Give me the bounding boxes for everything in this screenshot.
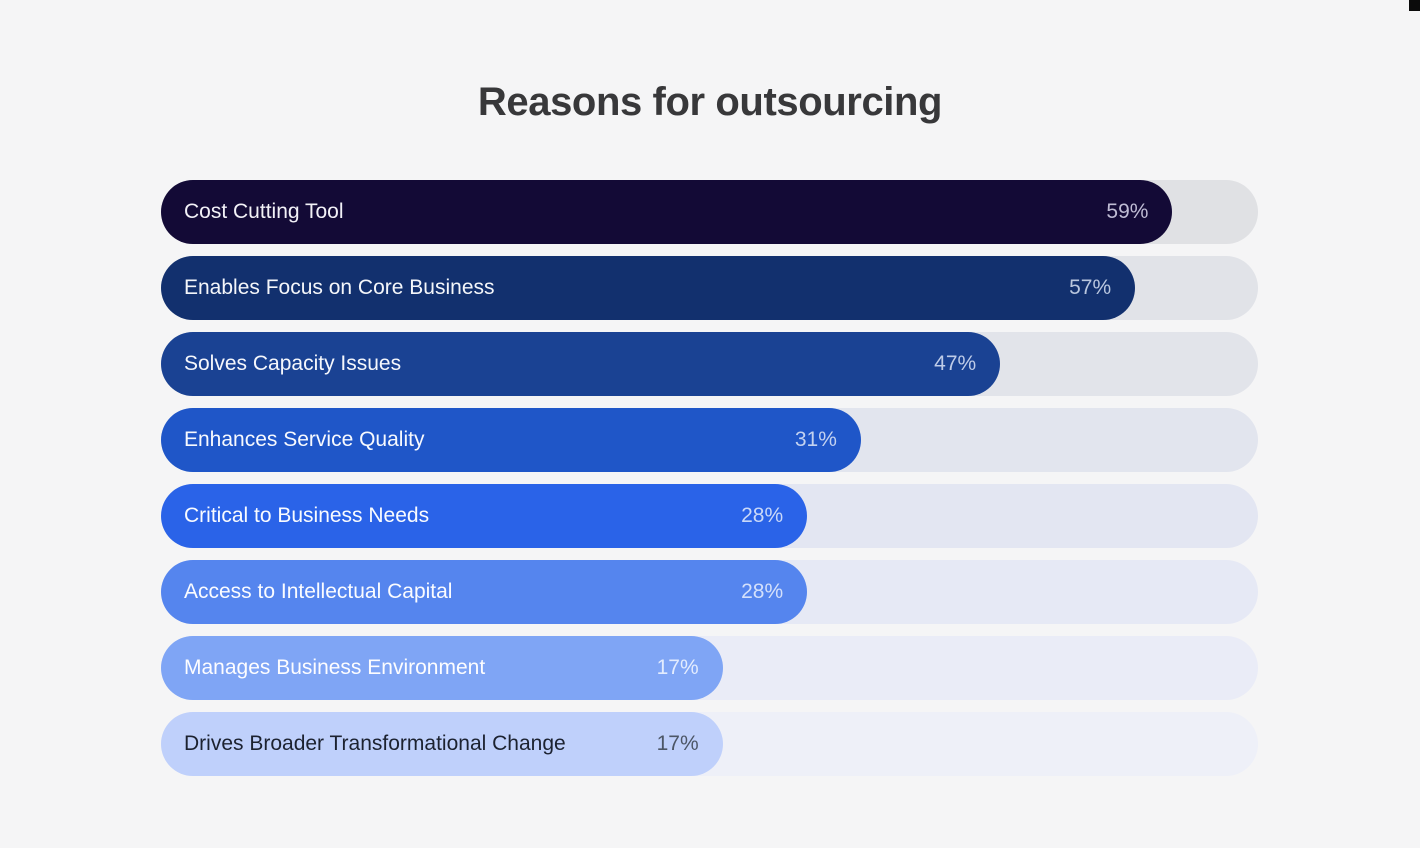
bar-fill[interactable]: Access to Intellectual Capital28% <box>161 560 807 624</box>
bar-category-label: Solves Capacity Issues <box>184 352 401 376</box>
bar-fill[interactable]: Enables Focus on Core Business57% <box>161 256 1135 320</box>
chart-canvas: Reasons for outsourcing Cost Cutting Too… <box>0 0 1420 848</box>
corner-artifact <box>1409 0 1420 11</box>
bar-row: Enhances Service Quality31% <box>161 408 1258 472</box>
bar-row: Manages Business Environment17% <box>161 636 1258 700</box>
bar-row: Solves Capacity Issues47% <box>161 332 1258 396</box>
bar-row: Access to Intellectual Capital28% <box>161 560 1258 624</box>
bar-fill[interactable]: Cost Cutting Tool59% <box>161 180 1172 244</box>
bar-category-label: Enhances Service Quality <box>184 428 424 452</box>
bar-value-label: 28% <box>741 580 783 604</box>
bar-category-label: Drives Broader Transformational Change <box>184 732 566 756</box>
bar-fill[interactable]: Drives Broader Transformational Change17… <box>161 712 723 776</box>
bar-fill[interactable]: Critical to Business Needs28% <box>161 484 807 548</box>
bar-category-label: Cost Cutting Tool <box>184 200 344 224</box>
bar-value-label: 17% <box>657 656 699 680</box>
bar-chart-bars: Cost Cutting Tool59%Enables Focus on Cor… <box>161 180 1258 788</box>
bar-fill[interactable]: Enhances Service Quality31% <box>161 408 861 472</box>
bar-value-label: 59% <box>1106 200 1148 224</box>
bar-row: Critical to Business Needs28% <box>161 484 1258 548</box>
bar-category-label: Critical to Business Needs <box>184 504 429 528</box>
bar-row: Cost Cutting Tool59% <box>161 180 1258 244</box>
bar-fill[interactable]: Manages Business Environment17% <box>161 636 723 700</box>
bar-fill[interactable]: Solves Capacity Issues47% <box>161 332 1000 396</box>
chart-title: Reasons for outsourcing <box>0 78 1420 126</box>
bar-row: Enables Focus on Core Business57% <box>161 256 1258 320</box>
bar-value-label: 47% <box>934 352 976 376</box>
bar-value-label: 28% <box>741 504 783 528</box>
bar-value-label: 31% <box>795 428 837 452</box>
bar-category-label: Access to Intellectual Capital <box>184 580 452 604</box>
bar-category-label: Manages Business Environment <box>184 656 485 680</box>
bar-row: Drives Broader Transformational Change17… <box>161 712 1258 776</box>
bar-category-label: Enables Focus on Core Business <box>184 276 495 300</box>
bar-value-label: 17% <box>657 732 699 756</box>
bar-value-label: 57% <box>1069 276 1111 300</box>
